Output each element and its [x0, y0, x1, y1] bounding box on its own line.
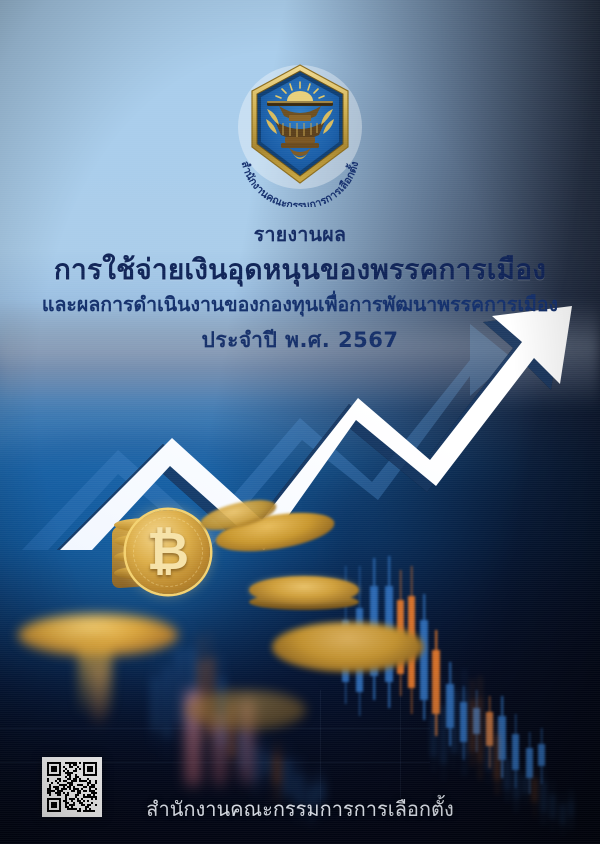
report-cover-page: ₿	[0, 0, 600, 844]
vignette-overlay	[0, 0, 600, 844]
